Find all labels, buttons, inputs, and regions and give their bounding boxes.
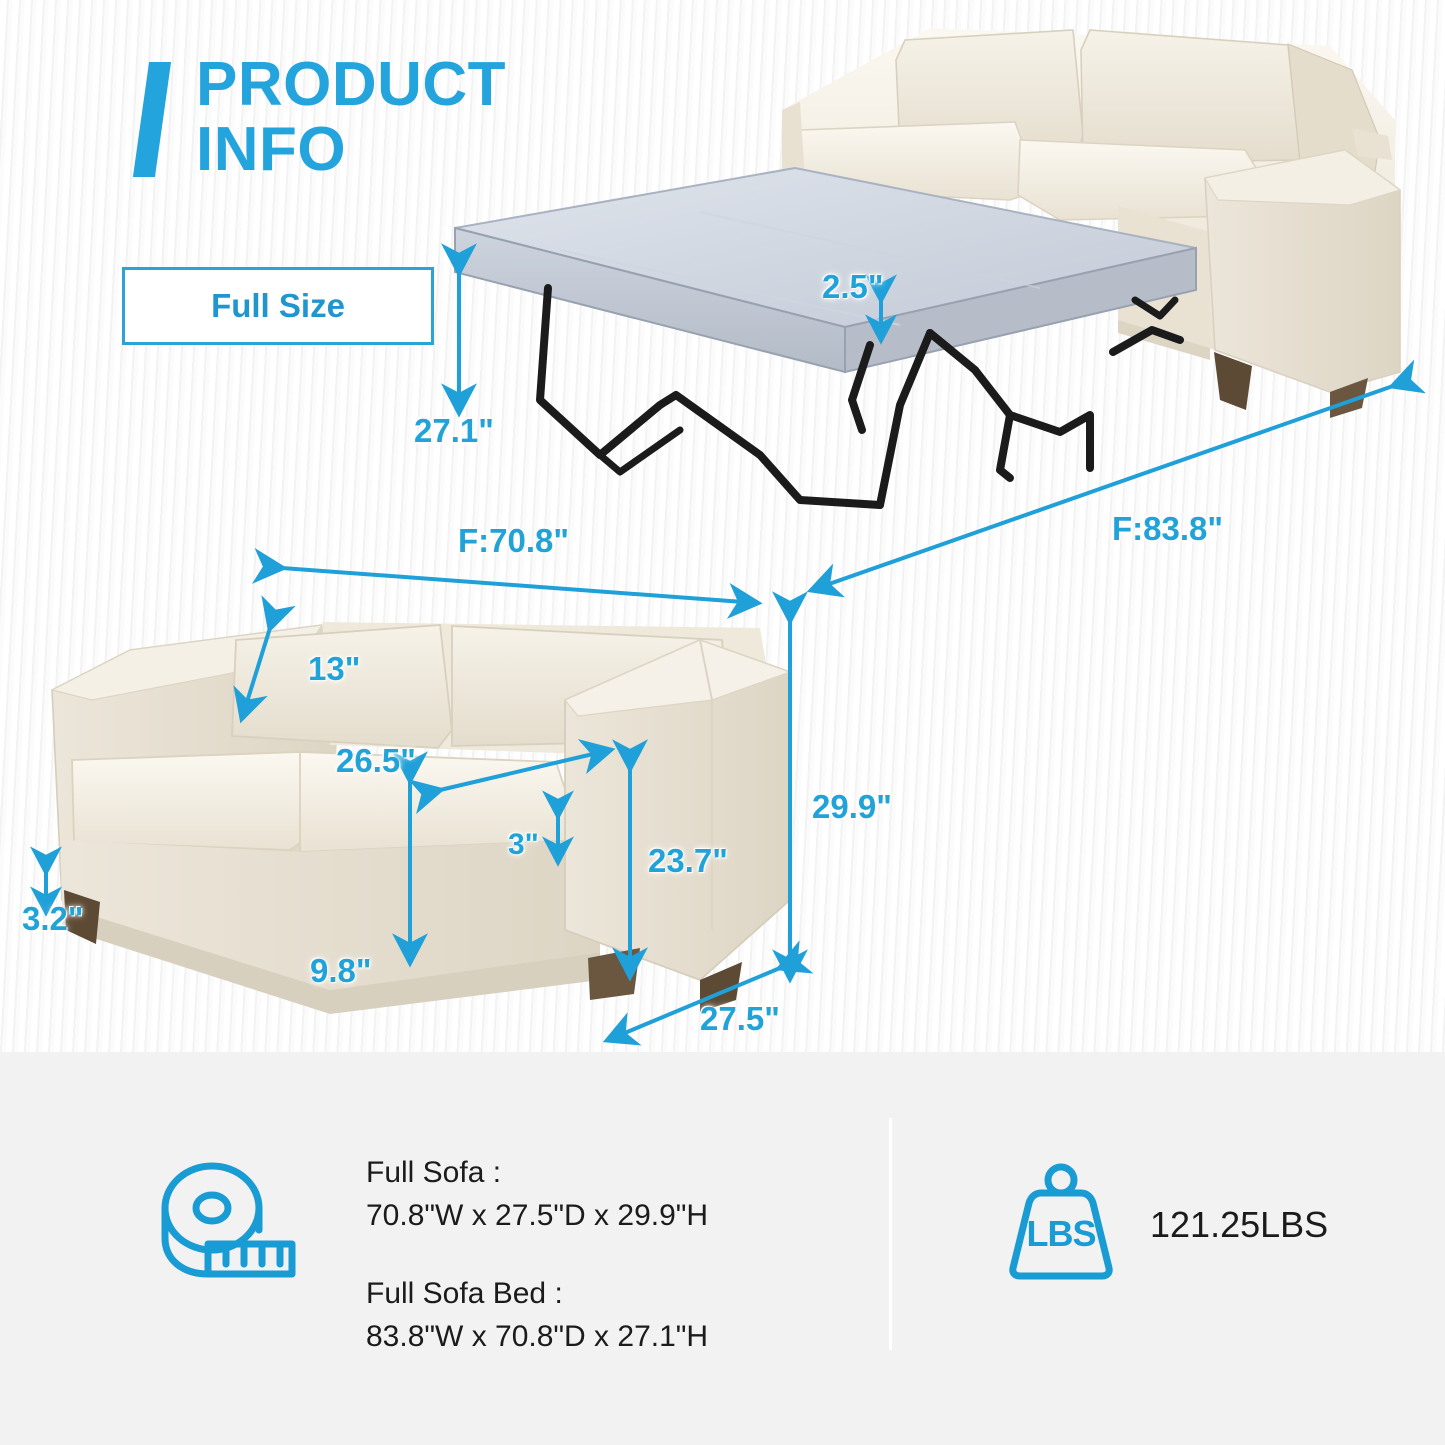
furniture-illustration — [0, 0, 1445, 1052]
label-seat-height: 9.8" — [310, 952, 372, 990]
label-bed-height: 27.1" — [414, 412, 494, 450]
sofa-closed-illustration — [52, 622, 790, 1014]
measuring-tape-icon — [140, 1160, 315, 1310]
spec-value-0: 70.8"W x 27.5"D x 29.9"H — [366, 1195, 708, 1238]
spec-label-1: Full Sofa Bed : — [366, 1273, 708, 1316]
label-bed-width: F:83.8" — [1112, 510, 1223, 548]
label-leg-height: 3.2" — [22, 900, 84, 938]
product-diagram-scene: PRODUCT INFO Full Size — [0, 0, 1445, 1052]
label-overall-height: 29.9" — [812, 788, 892, 826]
label-overall-depth: 27.5" — [700, 1000, 780, 1038]
weight-lbs-icon: LBS — [1005, 1160, 1117, 1285]
weight-value: 121.25LBS — [1150, 1204, 1328, 1246]
label-seat-depth: 26.5" — [336, 742, 416, 780]
label-bed-depth: F:70.8" — [458, 522, 569, 560]
label-mattress-thickness: 2.5" — [822, 268, 884, 306]
label-cushion-thickness: 3" — [508, 828, 539, 862]
arrow-bed-depth — [282, 568, 757, 603]
label-back-cushion-height: 13" — [308, 650, 360, 688]
svg-text:LBS: LBS — [1027, 1213, 1096, 1254]
spec-value-1: 83.8"W x 70.8"D x 27.1"H — [366, 1316, 708, 1359]
info-divider — [889, 1118, 892, 1350]
label-arm-height: 23.7" — [648, 842, 728, 880]
spec-label-0: Full Sofa : — [366, 1152, 708, 1195]
spec-list: Full Sofa : 70.8"W x 27.5"D x 29.9"H Ful… — [366, 1152, 708, 1358]
